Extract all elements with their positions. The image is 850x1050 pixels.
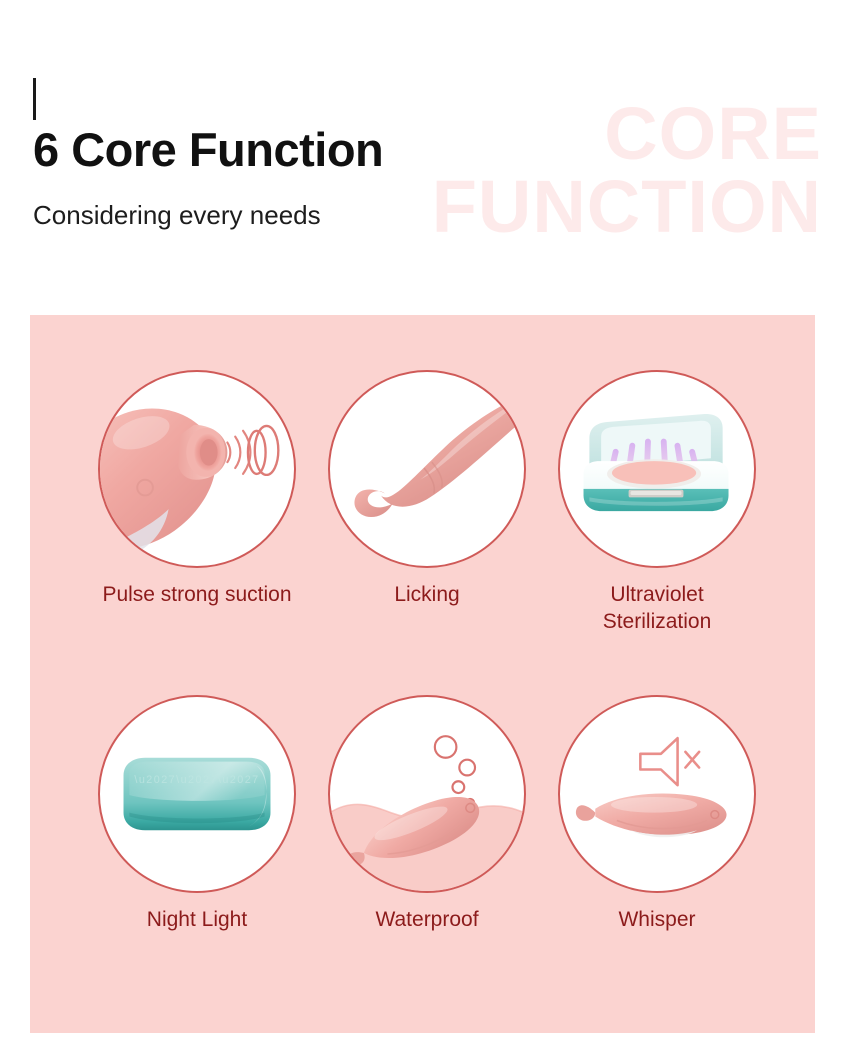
feature-label-licking: Licking	[312, 582, 542, 609]
feature-label-pulse-strong-suction: Pulse strong suction	[82, 582, 312, 609]
feature-item-whisper[interactable]: Whisper	[542, 695, 772, 1035]
feature-circle-licking	[328, 370, 526, 568]
feature-label-line-1: Licking	[312, 582, 542, 609]
title-accent-bar	[33, 78, 36, 120]
feature-label-ultraviolet-sterilization: Ultraviolet Sterilization	[542, 582, 772, 636]
feature-label-waterproof: Waterproof	[312, 907, 542, 934]
feature-row-bottom: \u2027\u2027\u2027 Night Light	[30, 695, 815, 1035]
watermark-line-2: FUNCTION	[432, 171, 822, 244]
feature-item-waterproof[interactable]: Waterproof	[312, 695, 542, 1035]
device-in-water-with-bubbles-icon	[330, 697, 524, 891]
feature-label-whisper: Whisper	[542, 907, 772, 934]
feature-circle-ultraviolet-sterilization	[558, 370, 756, 568]
feature-item-ultraviolet-sterilization[interactable]: Ultraviolet Sterilization	[542, 370, 772, 710]
feature-item-pulse-strong-suction[interactable]: Pulse strong suction	[82, 370, 312, 710]
svg-text:\u2027\u2027\u2027: \u2027\u2027\u2027	[134, 774, 259, 786]
feature-label-line-1: Night Light	[82, 907, 312, 934]
feature-panel: Pulse strong suction	[30, 315, 815, 1033]
feature-label-line-1: Whisper	[542, 907, 772, 934]
watermark-line-1: CORE	[432, 98, 822, 171]
feature-row-top: Pulse strong suction	[30, 370, 815, 710]
feature-circle-pulse-strong-suction	[98, 370, 296, 568]
feature-item-licking[interactable]: Licking	[312, 370, 542, 710]
open-uv-case-with-rays-icon	[560, 372, 754, 566]
device-with-mute-speaker-icon	[560, 697, 754, 891]
feature-label-line-1: Ultraviolet	[542, 582, 772, 609]
tongue-tip-device-icon	[330, 372, 524, 566]
feature-label-night-light: Night Light	[82, 907, 312, 934]
feature-circle-night-light: \u2027\u2027\u2027	[98, 695, 296, 893]
page-title: 6 Core Function	[33, 125, 383, 174]
suction-device-with-waves-icon	[100, 372, 294, 566]
background-watermark: CORE FUNCTION	[432, 98, 822, 243]
mute-speaker-glyph	[640, 738, 677, 785]
page-subtitle: Considering every needs	[33, 200, 321, 231]
feature-label-line-1: Pulse strong suction	[82, 582, 312, 609]
feature-label-line-2: Sterilization	[542, 609, 772, 636]
closed-teal-case-icon: \u2027\u2027\u2027	[100, 697, 294, 891]
feature-circle-whisper	[558, 695, 756, 893]
feature-item-night-light[interactable]: \u2027\u2027\u2027 Night Light	[82, 695, 312, 1035]
header-section: CORE FUNCTION 6 Core Function Considerin…	[0, 0, 850, 315]
feature-label-line-1: Waterproof	[312, 907, 542, 934]
feature-circle-waterproof	[328, 695, 526, 893]
